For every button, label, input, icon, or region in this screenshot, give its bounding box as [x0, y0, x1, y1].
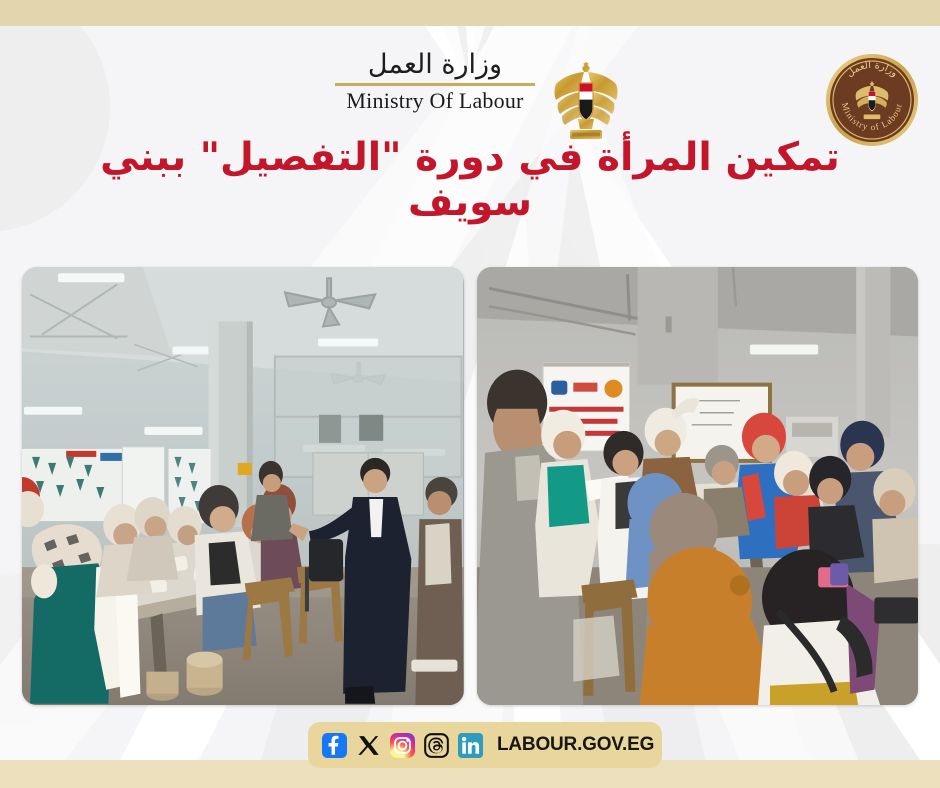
frame-band-top: [0, 0, 940, 26]
linkedin-icon[interactable]: [458, 733, 483, 758]
wordmark-divider: [335, 83, 535, 86]
page-title: تمكين المرأة في دورة "التفصيل" ببني سويف: [70, 135, 870, 225]
ministry-name-arabic: وزارة العمل: [332, 50, 538, 80]
x-twitter-icon[interactable]: [356, 733, 381, 758]
threads-icon[interactable]: [424, 733, 449, 758]
ministry-of-labour-seal-icon: وزارة العمل Ministry of Labour: [824, 52, 920, 148]
instagram-icon[interactable]: [390, 733, 415, 758]
workshop-photo-left: [22, 267, 464, 705]
poster-header: وزارة العمل Ministry Of Labour: [0, 26, 940, 138]
poster-canvas: وزارة العمل Ministry Of Labour: [0, 0, 940, 788]
photo-gallery: [22, 267, 918, 705]
ministry-name-english: Ministry Of Labour: [332, 88, 538, 114]
ministry-wordmark: وزارة العمل Ministry Of Labour: [332, 50, 538, 114]
website-url[interactable]: LABOUR.GOV.EG: [497, 734, 654, 756]
egypt-eagle-of-saladin-icon: [551, 59, 621, 147]
footer-social-bar: LABOUR.GOV.EG: [308, 722, 662, 768]
workshop-photo-right: [477, 267, 919, 705]
facebook-icon[interactable]: [322, 733, 347, 758]
poster-title-block: تمكين المرأة في دورة "التفصيل" ببني سويف: [70, 135, 870, 225]
